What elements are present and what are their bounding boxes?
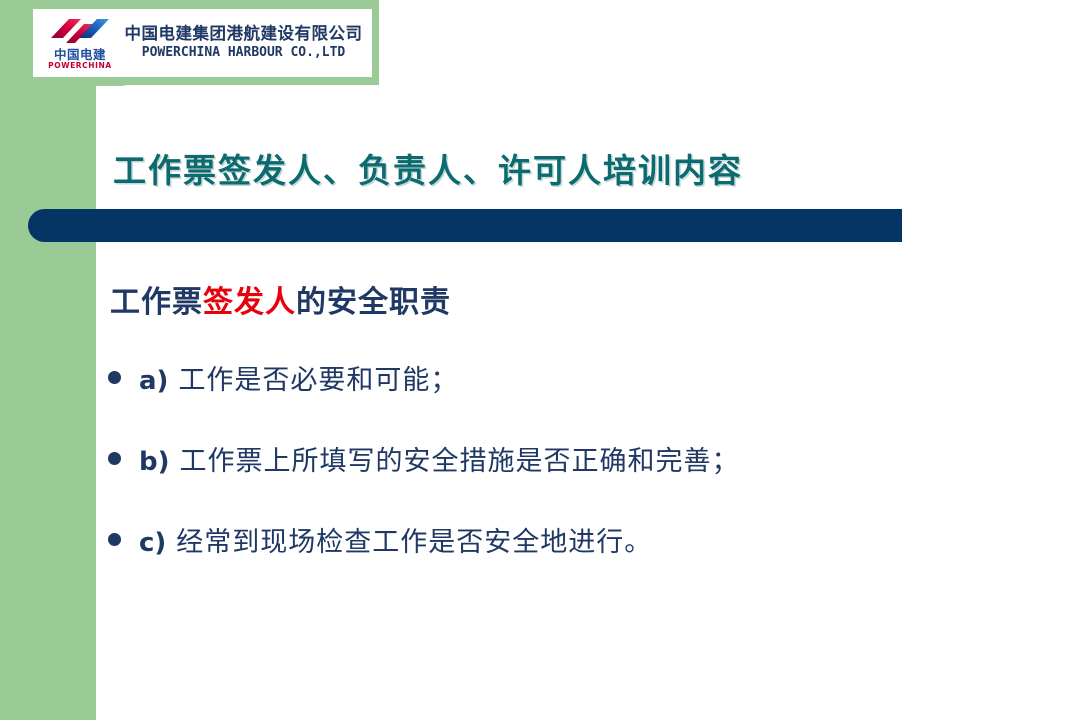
bullet-dot-icon — [108, 452, 121, 465]
list-item: a) 工作是否必要和可能； — [108, 358, 1008, 397]
logo-brand-en-label: POWERCHINA — [48, 62, 112, 70]
list-item: b) 工作票上所填写的安全措施是否正确和完善； — [108, 439, 1008, 478]
bullet-text: 工作票上所填写的安全措施是否正确和完善； — [180, 439, 740, 478]
company-name-block: 中国电建集团港航建设有限公司 POWERCHINA HARBOUR CO.,LT… — [121, 24, 372, 62]
bullet-text: 经常到现场检查工作是否安全地进行。 — [176, 520, 652, 559]
bullet-marker: a) — [139, 366, 168, 396]
company-name-en: POWERCHINA HARBOUR CO.,LTD — [121, 45, 366, 62]
body-heading-suffix: 的安全职责 — [296, 285, 451, 320]
bullet-marker: c) — [139, 528, 166, 558]
powerchina-logo-icon: 中国电建 POWERCHINA — [39, 12, 121, 74]
body-heading: 工作票签发人的安全职责 — [110, 277, 451, 321]
company-name-cn: 中国电建集团港航建设有限公司 — [121, 24, 366, 45]
company-logo-box: 中国电建 POWERCHINA 中国电建集团港航建设有限公司 POWERCHIN… — [33, 9, 372, 77]
body-heading-highlight: 签发人 — [203, 285, 296, 320]
body-heading-prefix: 工作票 — [110, 285, 203, 320]
bullet-dot-icon — [108, 533, 121, 546]
bullet-text: 工作是否必要和可能； — [178, 358, 458, 397]
slide-canvas: 中国电建 POWERCHINA 中国电建集团港航建设有限公司 POWERCHIN… — [0, 0, 1080, 720]
bullet-marker: b) — [139, 447, 170, 477]
bullet-list: a) 工作是否必要和可能； b) 工作票上所填写的安全措施是否正确和完善； c)… — [108, 358, 1008, 601]
list-item: c) 经常到现场检查工作是否安全地进行。 — [108, 520, 1008, 559]
bullet-dot-icon — [108, 371, 121, 384]
slide-title: 工作票签发人、负责人、许可人培训内容 — [113, 144, 973, 192]
left-green-sidebar — [0, 0, 96, 720]
powerchina-diamond-icon — [49, 16, 111, 46]
navy-divider-bar — [28, 209, 902, 242]
logo-brand-cn-label: 中国电建 — [54, 48, 106, 62]
